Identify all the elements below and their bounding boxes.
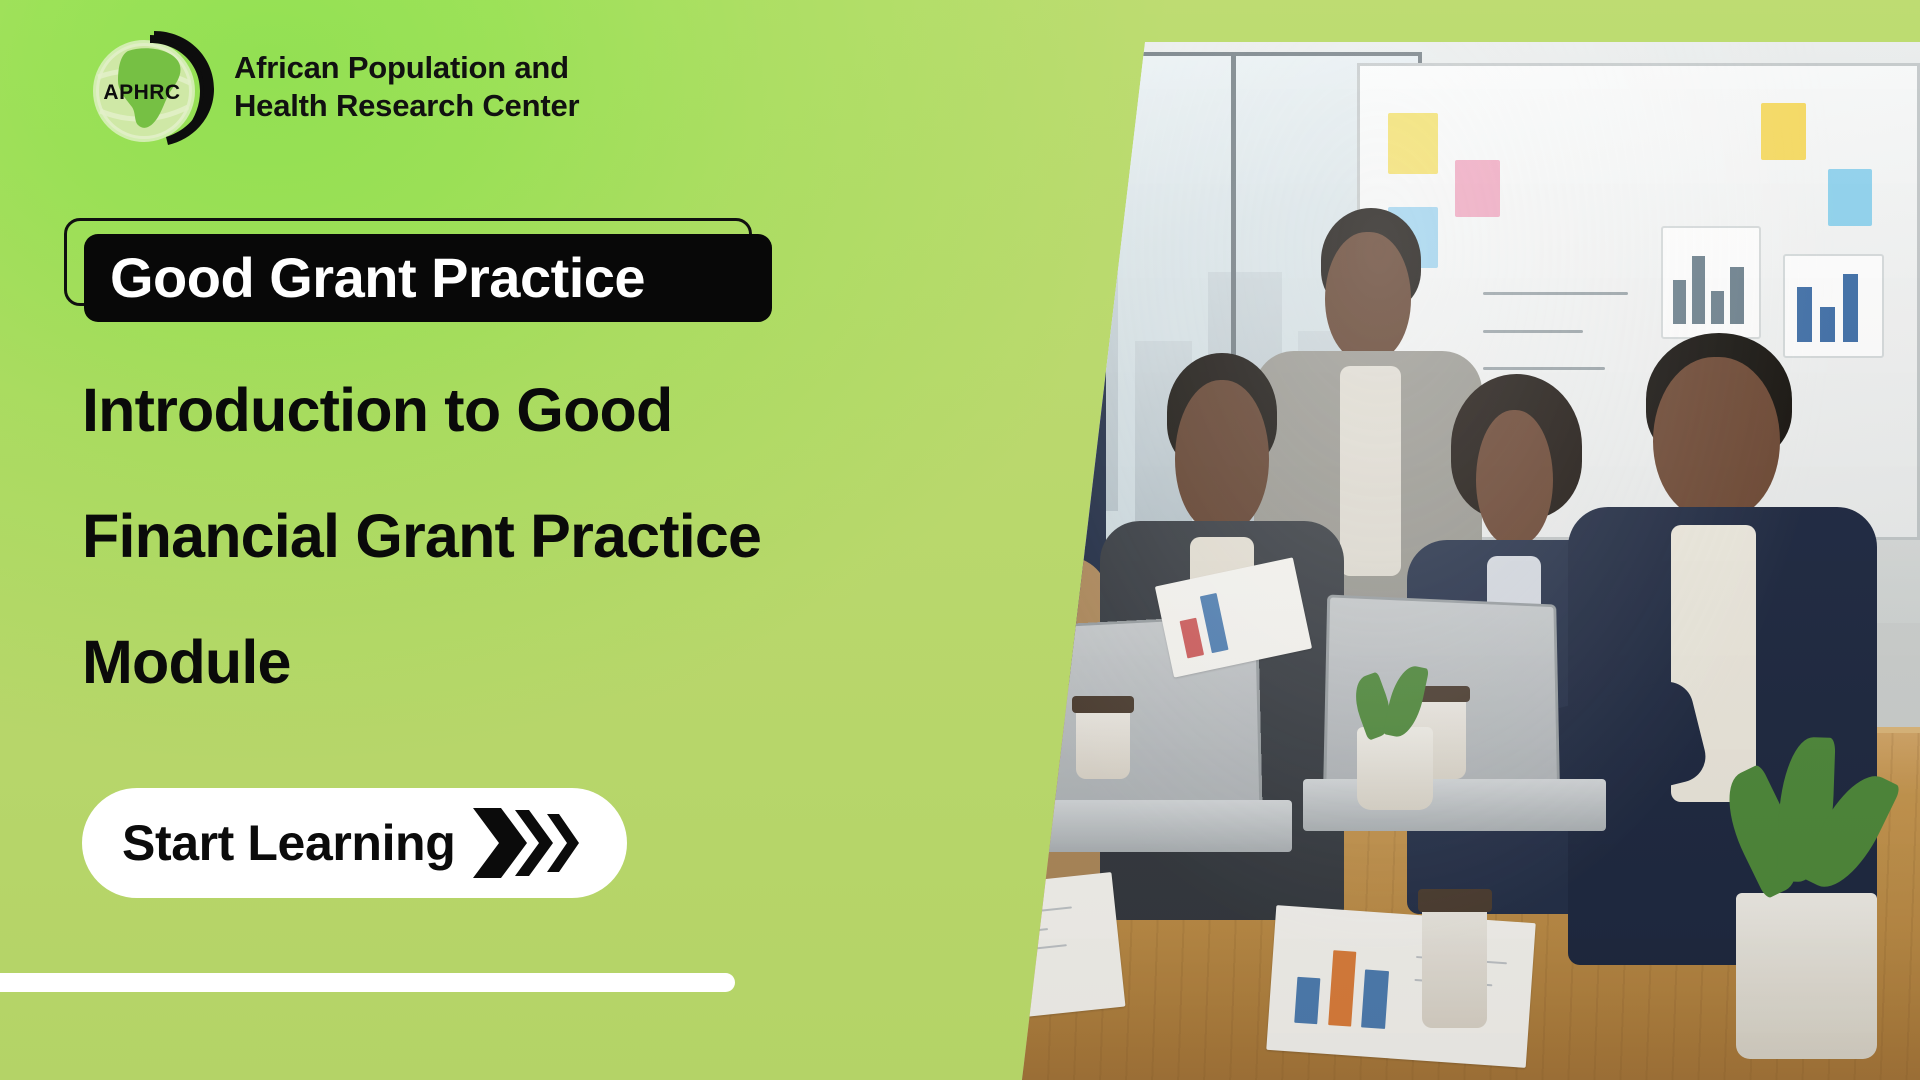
badge-label: Good Grant Practice — [110, 250, 645, 306]
slide-root: APHRC African Population and Health Rese… — [0, 0, 1920, 1080]
page-title-line3: Module — [82, 632, 1012, 693]
aphrc-logo: APHRC African Population and Health Rese… — [88, 28, 608, 146]
course-badge: Good Grant Practice — [64, 218, 804, 328]
badge-fill-shape: Good Grant Practice — [84, 234, 772, 322]
organization-name-line2: Health Research Center — [234, 87, 579, 125]
page-title-line2: Financial Grant Practice — [82, 506, 1012, 567]
organization-name: African Population and Health Research C… — [234, 49, 579, 125]
start-learning-button[interactable]: Start Learning — [82, 788, 627, 898]
organization-name-line1: African Population and — [234, 49, 579, 87]
progress-bar — [0, 973, 735, 992]
page-title: Introduction to Good Financial Grant Pra… — [82, 380, 1012, 693]
svg-text:APHRC: APHRC — [103, 81, 180, 104]
page-title-line1: Introduction to Good — [82, 380, 1012, 441]
triple-chevron-right-icon — [471, 806, 579, 880]
start-learning-label: Start Learning — [122, 814, 455, 872]
aphrc-globe-africa-logo-icon: APHRC — [88, 29, 216, 145]
